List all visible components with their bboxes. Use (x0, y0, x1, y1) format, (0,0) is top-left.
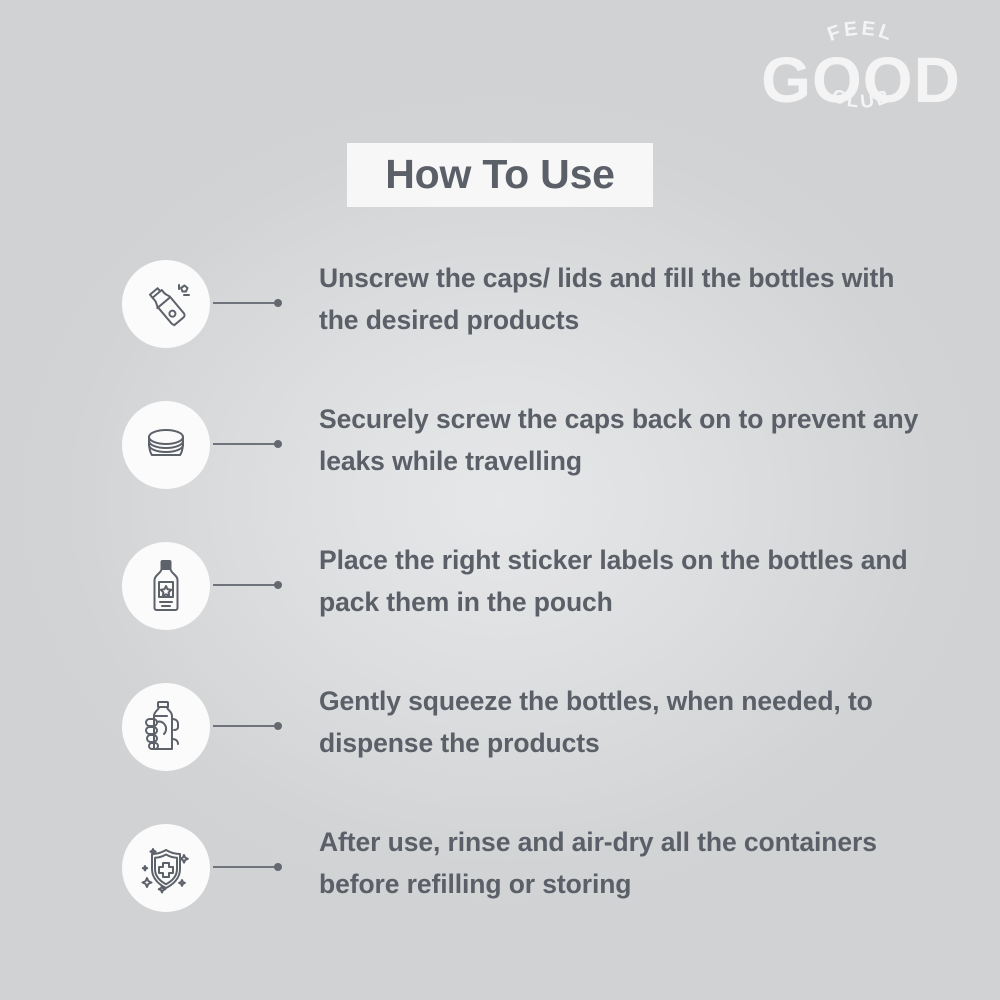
connector-line (213, 443, 277, 445)
how-to-use-poster: FEEL GOOD CLUB How To Use (0, 0, 1000, 1000)
step-icon-container (122, 542, 210, 630)
step-icon-container (122, 824, 210, 912)
step-item: Securely screw the caps back on to preve… (0, 393, 1000, 534)
step-text: Unscrew the caps/ lids and fill the bott… (319, 258, 919, 342)
steps-list: Unscrew the caps/ lids and fill the bott… (0, 252, 1000, 957)
feel-good-club-logo: FEEL GOOD CLUB (746, 16, 976, 131)
connector-line (213, 302, 277, 304)
bottle-pour-icon (138, 276, 194, 332)
connector-dot (274, 863, 282, 871)
sparkling-shield-icon (138, 840, 194, 896)
step-text: Gently squeeze the bottles, when needed,… (319, 681, 919, 765)
bottle-cap-icon (138, 417, 194, 473)
page-title: How To Use (385, 154, 615, 197)
connector-line (213, 584, 277, 586)
step-item: Gently squeeze the bottles, when needed,… (0, 675, 1000, 816)
connector-line (213, 725, 277, 727)
step-text: Securely screw the caps back on to preve… (319, 399, 919, 483)
connector-dot (274, 722, 282, 730)
connector-dot (274, 299, 282, 307)
step-icon-container (122, 401, 210, 489)
step-item: Unscrew the caps/ lids and fill the bott… (0, 252, 1000, 393)
labelled-bottle-icon (138, 558, 194, 614)
svg-text:FEEL: FEEL (825, 18, 898, 47)
step-text: Place the right sticker labels on the bo… (319, 540, 919, 624)
connector-line (213, 866, 277, 868)
hand-squeezing-bottle-icon (138, 699, 194, 755)
title-banner: How To Use (347, 143, 653, 207)
step-item: Place the right sticker labels on the bo… (0, 534, 1000, 675)
step-icon-container (122, 260, 210, 348)
step-icon-container (122, 683, 210, 771)
connector-dot (274, 581, 282, 589)
step-item: After use, rinse and air-dry all the con… (0, 816, 1000, 957)
step-text: After use, rinse and air-dry all the con… (319, 822, 919, 906)
connector-dot (274, 440, 282, 448)
